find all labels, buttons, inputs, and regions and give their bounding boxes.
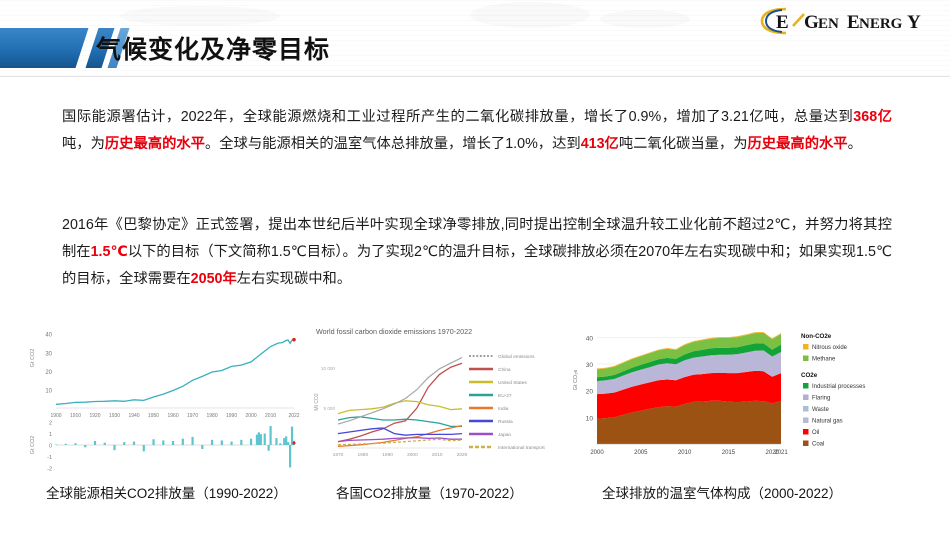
c2-xtick: 1990 — [382, 452, 393, 458]
c2-xtick: 2000 — [407, 452, 418, 458]
c2-legend-swatch — [491, 355, 493, 357]
c1-xtick: 1960 — [167, 413, 178, 419]
c1b-bar — [250, 439, 252, 445]
p1-highlight-record-1: 历史最高的水平 — [105, 136, 205, 152]
c1b-bar — [283, 438, 285, 445]
c3-legend-label: Nitrous oxide — [812, 345, 848, 351]
c1b-bar — [143, 445, 145, 451]
c1b-bar — [269, 426, 271, 445]
c2-series-india — [338, 426, 462, 447]
c3-legend-swatch — [803, 418, 809, 424]
c1-xtick: 1950 — [148, 413, 159, 419]
c1-xtick: 1940 — [128, 413, 139, 419]
c2-xtick: 1970 — [333, 452, 344, 458]
chart-world-fossil-co2-by-country: World fossil carbon dioxide emissions 19… — [312, 322, 557, 474]
c1b-ytick: -2 — [47, 467, 52, 473]
c1-xtick: 2000 — [246, 413, 257, 419]
c1b-ytick: -1 — [47, 455, 52, 461]
c3-legend-label: Oil — [812, 430, 819, 436]
c1-xtick: 1910 — [70, 413, 81, 419]
c2-legend-swatch — [480, 355, 482, 357]
c1b-bar — [123, 442, 125, 445]
c2-ytick: 5 000 — [324, 406, 336, 411]
watermark-blob — [470, 2, 590, 28]
c2-legend-label: United States — [498, 380, 527, 386]
p1-highlight-record-2: 历史最高的水平 — [748, 136, 848, 152]
p2-highlight-2050: 2050年 — [191, 271, 237, 287]
slide: E G EN E NERG Y 气候变化及净零目标 国际能源署估计，2022年，… — [0, 0, 950, 535]
c2-xtick: 2020 — [457, 452, 468, 458]
c1b-bar — [94, 441, 96, 445]
p1-text-1: 国际能源署估计，2022年，全球能源燃烧和工业过程所产生的二氧化碳排放量，增长了… — [62, 109, 853, 125]
c1b-bar — [133, 442, 135, 445]
p1-text-4: 吨二氧化碳当量，为 — [619, 136, 748, 152]
c2-legend-swatch — [487, 355, 489, 357]
c1-line-series — [56, 340, 294, 405]
c1-ytick: 10 — [45, 388, 52, 394]
p1-text-3: 。全球与能源相关的温室气体总排放量，增长了1.0%，达到 — [205, 136, 581, 152]
c1b-bar — [260, 434, 262, 445]
chart-global-ghg-composition: 10203040Gt CO₂e200020052010201520202021N… — [563, 322, 883, 474]
c1b-bar — [275, 438, 277, 445]
c3-legend-label: Methane — [812, 357, 836, 363]
c1-endpoint-marker — [292, 338, 296, 342]
c3-ytick: 20 — [586, 389, 594, 396]
c3-legend-group-title: CO2e — [801, 372, 818, 379]
c3-ylabel: Gt CO₂e — [573, 370, 579, 391]
c1b-bar — [104, 443, 106, 445]
chart-global-energy-co2: 10203040Gt CO219001910192019301940195019… — [22, 322, 307, 474]
c1b-bar — [172, 441, 174, 445]
watermark-blob — [120, 6, 280, 26]
c2-legend-label: Russia — [498, 419, 513, 425]
c1-ytick: 30 — [45, 351, 52, 357]
c1-xtick: 1990 — [226, 413, 237, 419]
c3-ytick: 10 — [586, 415, 594, 422]
c1b-bar — [182, 439, 184, 445]
p1-highlight-368: 368亿 — [853, 109, 892, 125]
c3-legend-swatch — [803, 429, 809, 435]
c1b-bar — [240, 440, 242, 445]
c1-xtick: 1920 — [89, 413, 100, 419]
c1b-ylabel: Gt CO2 — [30, 436, 36, 455]
chart-caption-2: 各国CO2排放量（1970-2022） — [336, 482, 523, 502]
c3-legend-label: Industrial processes — [812, 384, 865, 390]
c1b-ytick: 1 — [49, 432, 52, 438]
c3-legend-swatch — [803, 406, 809, 412]
chart-caption-1: 全球能源相关CO2排放量（1990-2022） — [46, 482, 287, 502]
c1b-bar — [258, 432, 260, 445]
c1b-bar — [65, 444, 67, 445]
c2-xtick: 1980 — [357, 452, 368, 458]
c3-legend-swatch — [803, 344, 809, 350]
c2-legend-swatch — [483, 355, 485, 357]
p2-highlight-15c: 1.5℃ — [91, 244, 128, 260]
paragraph-paris-agreement: 2016年《巴黎协定》正式签署，提出本世纪后半叶实现全球净零排放,同时提出控制全… — [62, 212, 892, 293]
title-accent-block — [0, 28, 88, 68]
c2-series-global — [338, 358, 462, 424]
c1-xtick: 1900 — [50, 413, 61, 419]
c1b-ytick: 2 — [49, 421, 52, 427]
title-divider — [0, 76, 950, 77]
c2-legend-label: China — [498, 367, 511, 373]
c1b-bar — [287, 442, 289, 445]
c1b-bar — [55, 444, 57, 445]
c3-legend-label: Flaring — [812, 396, 830, 402]
c1b-bar — [191, 437, 193, 445]
c3-xtick: 2010 — [678, 450, 692, 456]
c3-legend-swatch — [803, 395, 809, 401]
c1-xtick: 1970 — [187, 413, 198, 419]
c1b-bar — [264, 434, 266, 446]
p1-text-5: 。 — [848, 136, 862, 152]
c3-legend-swatch — [803, 356, 809, 362]
c2-legend-swatch — [469, 355, 471, 357]
c1b-bar — [84, 445, 86, 447]
page-title: 气候变化及净零目标 — [96, 30, 330, 66]
p1-text-2: 吨，为 — [62, 136, 105, 152]
c1-xtick: 1980 — [207, 413, 218, 419]
c1-xtick: 2022 — [288, 413, 299, 419]
c1b-bar — [268, 445, 270, 451]
p2-text-2: 以下的目标（下文简称1.5℃目标）。为了实现2℃的温升目标，全球碳排放必须在20… — [62, 244, 892, 287]
c3-ytick: 30 — [586, 362, 594, 369]
c1b-bar — [162, 440, 164, 445]
c1b-bar — [289, 445, 291, 467]
c2-xtick: 2010 — [432, 452, 443, 458]
c2-legend-label: EU-27 — [498, 393, 512, 399]
c3-legend-label: Coal — [812, 442, 824, 448]
c1b-bar — [279, 443, 281, 445]
c3-ytick: 40 — [586, 335, 594, 342]
p2-text-3: 左右实现碳中和。 — [237, 271, 351, 287]
c1-xtick: 1930 — [109, 413, 120, 419]
c2-legend-swatch — [476, 355, 478, 357]
chart-caption-3: 全球排放的温室气体构成（2000-2022） — [602, 482, 842, 502]
paragraph-emissions: 国际能源署估计，2022年，全球能源燃烧和工业过程所产生的二氧化碳排放量，增长了… — [62, 104, 892, 158]
watermark-blob — [600, 10, 690, 28]
c1b-bar — [113, 445, 115, 450]
c2-legend-swatch — [473, 355, 475, 357]
c1-ytick: 40 — [45, 333, 52, 339]
c1b-bar — [256, 435, 258, 445]
c3-xtick: 2005 — [634, 450, 648, 456]
c1b-bar — [285, 436, 287, 445]
c1b-bar — [211, 440, 213, 445]
c2-legend-label: International transport — [498, 445, 545, 451]
c3-legend-swatch — [803, 383, 809, 389]
c3-legend-group-title: Non-CO2e — [801, 333, 832, 340]
c2-ylabel: Mt CO2 — [314, 393, 320, 410]
c1b-bar — [152, 439, 154, 445]
c2-legend-label: Japan — [498, 432, 511, 438]
c1-xtick: 2010 — [265, 413, 276, 419]
c1b-bar — [221, 440, 223, 445]
c1b-ytick: 0 — [49, 444, 52, 450]
c1b-bar — [74, 443, 76, 445]
c3-legend-swatch — [803, 441, 809, 447]
c2-legend-label: Global emissions — [498, 354, 535, 360]
c2-title: World fossil carbon dioxide emissions 19… — [316, 327, 472, 336]
c2-series-united-states — [338, 401, 462, 414]
c3-xtick: 2015 — [722, 450, 736, 456]
p1-highlight-413: 413亿 — [581, 136, 619, 152]
c3-legend-label: Waste — [812, 407, 829, 413]
c3-xtick: 2000 — [590, 450, 604, 456]
c3-xtick: 2021 — [774, 450, 788, 456]
c1-ylabel: Gt CO2 — [30, 349, 36, 368]
c1b-endpoint-marker — [293, 442, 296, 445]
c1-ytick: 20 — [45, 370, 52, 376]
c1b-bar — [230, 442, 232, 445]
c2-ytick: 10 000 — [321, 366, 335, 371]
c3-legend-label: Natural gas — [812, 419, 843, 425]
c2-legend-label: India — [498, 406, 509, 412]
c1b-bar — [201, 445, 203, 449]
charts-row: 10203040Gt CO219001910192019301940195019… — [0, 322, 950, 482]
